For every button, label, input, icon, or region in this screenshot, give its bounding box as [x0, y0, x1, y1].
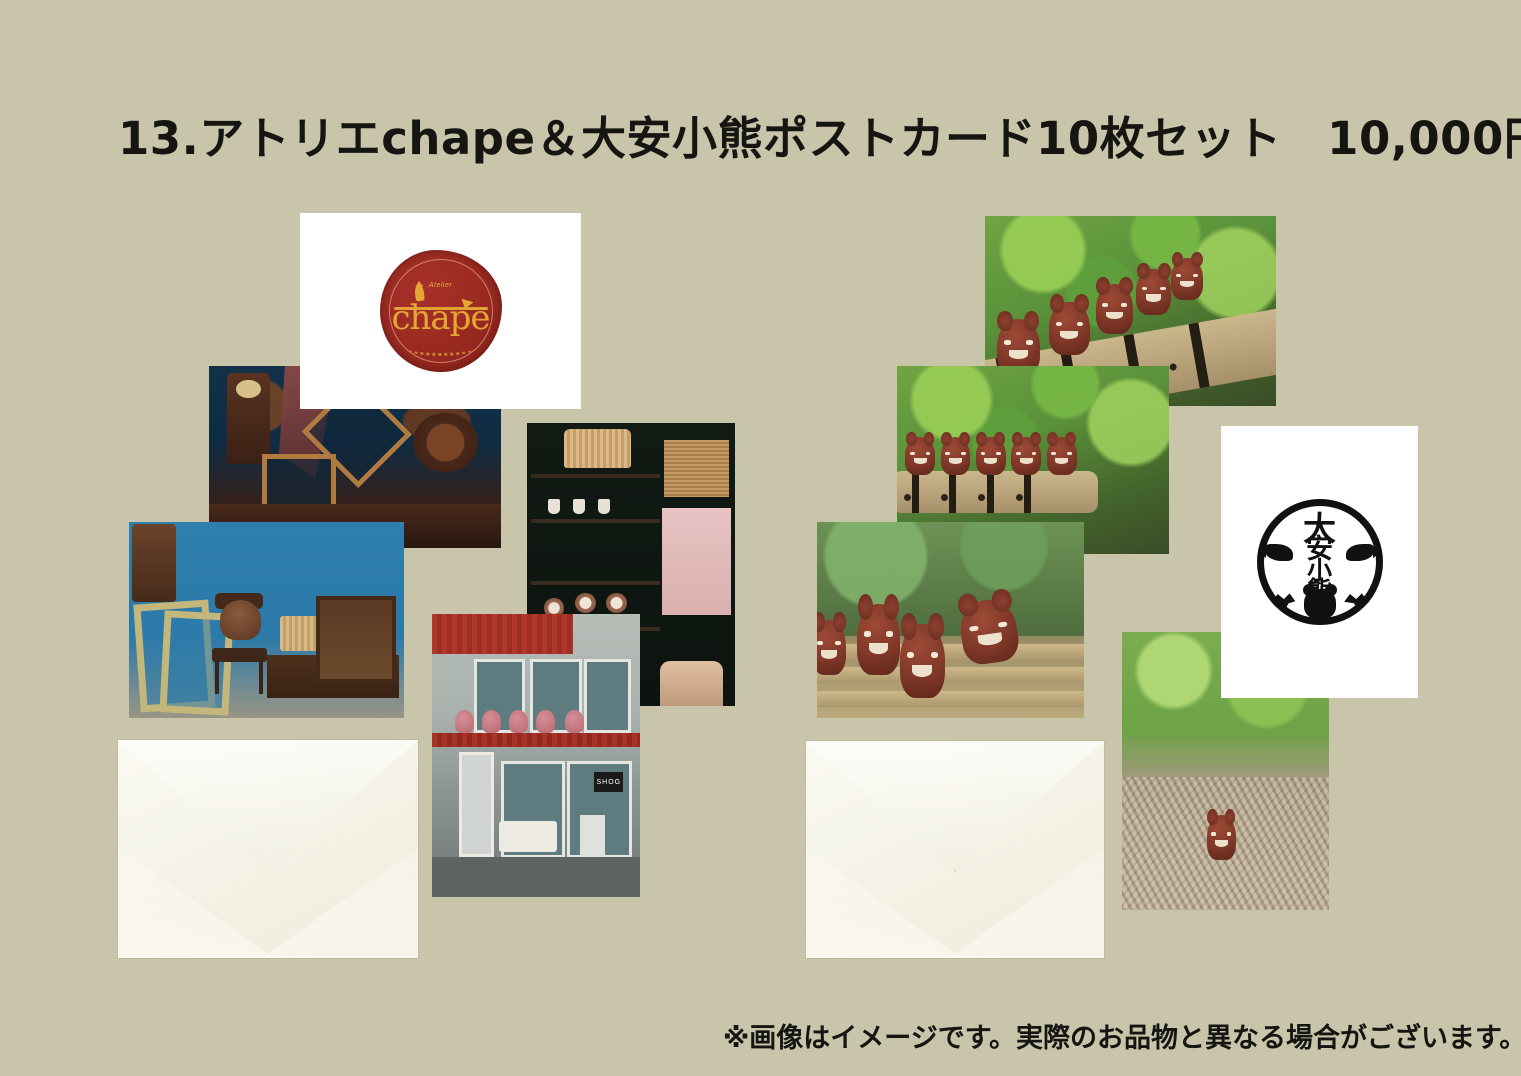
bear-mouth: [914, 458, 927, 464]
store-upper-window-3: [584, 659, 632, 733]
bear-eye-left: [1211, 832, 1216, 836]
bear-mouth: [1215, 840, 1228, 847]
bear-mouth: [977, 633, 1003, 646]
blue-wall-basket: [280, 616, 319, 651]
blue-wall-clock: [132, 524, 176, 602]
bear-eye-left: [945, 452, 950, 455]
bear-mouth: [912, 665, 932, 677]
deck-slat-3: [817, 691, 1084, 707]
closeup-bear-3: [900, 624, 945, 698]
bear-eye-right: [1193, 274, 1198, 277]
beam-notch-4: [1024, 471, 1031, 512]
log-bear-2: [1049, 302, 1090, 355]
envelope-right-flap: [806, 741, 1104, 872]
blue-wall-cabinet: [316, 596, 396, 682]
store-bench: [499, 821, 557, 852]
store-sign: SHOG: [594, 772, 623, 792]
bear-eye-left: [981, 452, 986, 455]
bear-eye-left: [817, 641, 823, 645]
log-bear-4: [1136, 269, 1171, 315]
beam: [897, 471, 1098, 512]
beam-hole-1: [904, 494, 911, 501]
bear-eye-right: [886, 631, 893, 637]
chair-seat: [212, 648, 267, 662]
shelf-wicker-panel: [664, 440, 728, 497]
store-bear-figure-1: [455, 710, 474, 733]
page-title: 13.アトリエchape＆大安小熊ポストカード10枚セット 10,000円: [118, 102, 1521, 167]
bear-eye-left: [910, 452, 915, 455]
bear-mouth: [984, 458, 997, 464]
bear-eye-right: [1067, 452, 1072, 455]
bear-eye-right: [996, 452, 1001, 455]
shelf-plate-3: [606, 593, 627, 613]
bear-eye-right: [998, 622, 1008, 628]
path-bear: [1207, 815, 1236, 859]
beam-bear-3: [976, 437, 1006, 475]
bear-eye-right: [1121, 303, 1127, 307]
shelf-cup-2: [573, 499, 585, 513]
log-bear-5: [1171, 258, 1203, 300]
bear-eye-left: [1016, 452, 1021, 455]
bear-eye-left: [1176, 274, 1181, 277]
store-pavement: [432, 857, 640, 897]
shelf-wicker-basket: [564, 429, 631, 469]
beam-notch-3: [987, 471, 994, 512]
seal-arc: [406, 341, 474, 356]
bear-eye-left: [1102, 303, 1108, 307]
beam-hole-4: [1016, 494, 1023, 501]
daian-koguma-stamp-logo: 大 安 小 熊: [1257, 499, 1383, 625]
bear-eye-left: [969, 626, 979, 632]
store-outdoor-unit: [580, 815, 605, 857]
antique-wheel: [413, 413, 477, 471]
disclaimer-note: ※画像はイメージです。実際のお品物と異なる場合がございます。: [723, 1016, 1521, 1055]
shelf-board-2: [531, 519, 660, 523]
beam-bear-4: [1011, 437, 1041, 475]
store-bear-figure-2: [482, 710, 501, 733]
beam-notch-1: [912, 471, 919, 512]
bear-eye-right: [1077, 322, 1084, 326]
poster-canvas: 13.アトリエchape＆大安小熊ポストカード10枚セット 10,000円 At…: [0, 0, 1521, 1076]
log-bear-3: [1096, 284, 1134, 333]
shelf-plate-2: [575, 593, 596, 613]
store-bear-figure-4: [536, 710, 555, 733]
bear-mouth: [1055, 458, 1068, 464]
photo-storefront: SHOG: [432, 614, 640, 897]
photo-koguma-stamp-card: 大 安 小 熊: [1221, 426, 1418, 698]
stamp-bear-icon: [1304, 589, 1336, 619]
shelf-board-1: [531, 474, 660, 478]
shelf-pink-wall: [662, 508, 731, 616]
bear-eye-left: [1004, 340, 1011, 345]
photo-antique-blue-wall: [129, 522, 404, 718]
store-bear-figure-5: [565, 710, 584, 733]
bear-mouth: [1060, 331, 1078, 340]
bear-mouth: [1106, 312, 1123, 320]
shelf-cup-1: [548, 499, 560, 513]
background-foliage-blur: [817, 522, 1084, 636]
deck-slat-2: [817, 667, 1084, 683]
bear-mouth: [1020, 458, 1033, 464]
beam-hole-2: [941, 494, 948, 501]
bear-mouth: [821, 650, 836, 659]
bear-eye-right: [961, 452, 966, 455]
bear-eye-left: [864, 631, 871, 637]
bear-eye-right: [835, 641, 841, 645]
bear-eye-right: [926, 452, 931, 455]
bear-eye-right: [931, 652, 938, 658]
chair-leg-left: [215, 660, 219, 695]
closeup-bear-1: [817, 620, 846, 675]
photo-envelope-left: [118, 740, 418, 958]
store-bear-figure-3: [509, 710, 528, 733]
beam-bear-1: [905, 437, 935, 475]
bear-eye-left: [1142, 287, 1148, 291]
bear-eye-left: [907, 652, 914, 658]
seal-brand-word: chape: [380, 301, 502, 335]
antique-clock: [227, 373, 271, 464]
bear-mouth: [869, 643, 888, 654]
shelf-cup-3: [598, 499, 610, 513]
log-stripe-4: [1188, 322, 1209, 387]
shelf-board-3: [531, 581, 660, 585]
closeup-bear-2: [857, 604, 900, 675]
beam-bear-2: [941, 437, 971, 475]
photo-envelope-right: [806, 741, 1104, 958]
bear-eye-right: [1160, 287, 1166, 291]
beam-hole-3: [978, 494, 985, 501]
bear-eye-right: [1227, 832, 1232, 836]
photo-chape-logo-card: Atelier chape: [300, 213, 581, 409]
photo-bears-closeup: [817, 522, 1084, 718]
beam-bear-5: [1047, 437, 1077, 475]
beam-notch-2: [949, 471, 956, 512]
log-hole-3: [1169, 362, 1177, 370]
envelope-left-flap: [118, 740, 418, 872]
store-roof: [432, 614, 573, 654]
bear-mouth: [949, 458, 962, 464]
bear-eye-right: [1032, 452, 1037, 455]
bear-mouth: [1146, 294, 1161, 301]
shelf-chair: [660, 661, 722, 706]
bear-mouth: [1180, 281, 1194, 288]
seal-atelier-text: Atelier: [380, 282, 502, 289]
bear-eye-right: [1026, 340, 1033, 345]
bear-mouth: [1009, 350, 1028, 359]
store-door: [459, 752, 494, 857]
bear-eye-left: [1051, 452, 1056, 455]
store-awning: [432, 733, 640, 747]
chape-wax-seal-logo: Atelier chape: [380, 250, 502, 372]
blue-wall-bear-object: [220, 600, 261, 639]
chair-leg-right: [259, 660, 263, 695]
bear-eye-left: [1056, 322, 1063, 326]
